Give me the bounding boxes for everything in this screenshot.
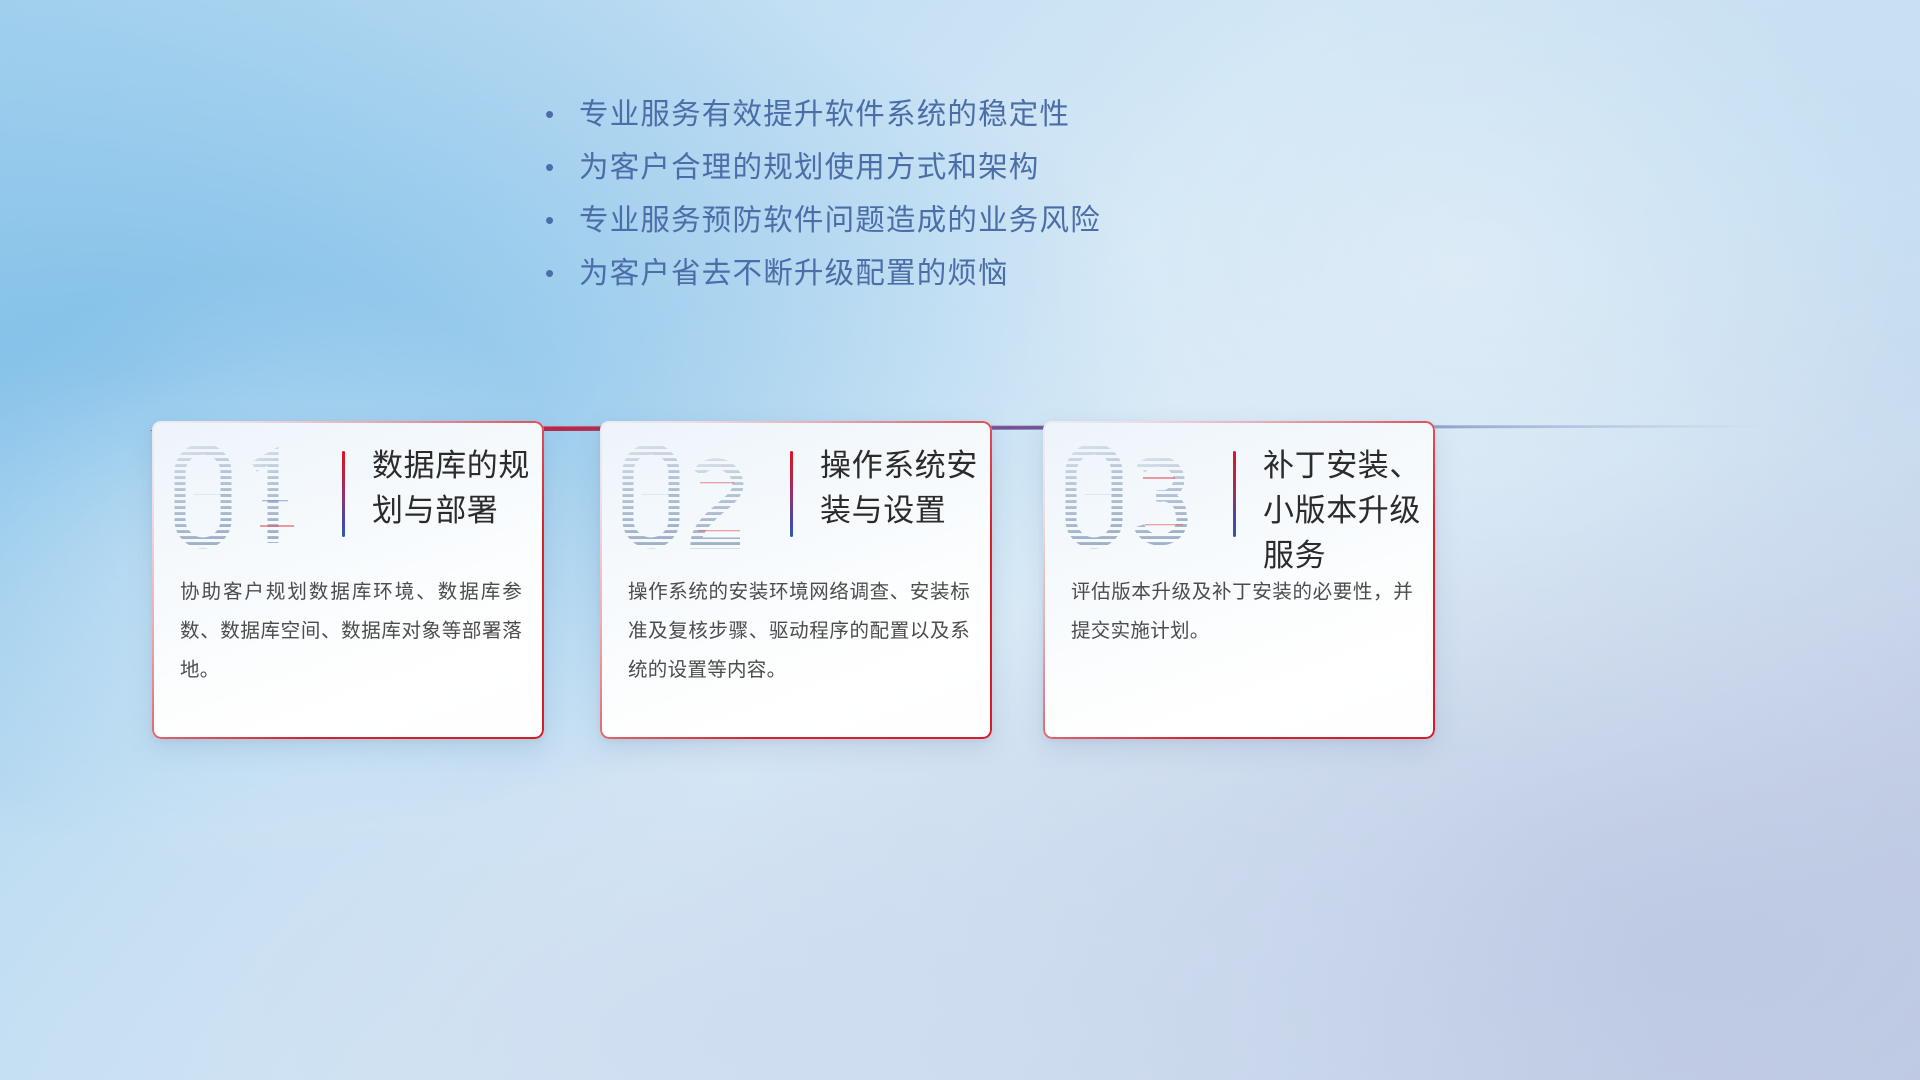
service-card[interactable]: 操作系统安装与设置 操作系统的安装环境网络调查、安装标准及复核步骤、驱动程序的配… [600, 421, 992, 739]
bullet-dot-icon: • [545, 141, 579, 194]
title-accent-rule [790, 451, 793, 537]
card-number-watermark [1061, 437, 1211, 555]
list-item: • 为客户省去不断升级配置的烦恼 [545, 247, 1605, 300]
bullet-text: 专业服务有效提升软件系统的稳定性 [579, 88, 1070, 141]
card-description: 操作系统的安装环境网络调查、安装标准及复核步骤、驱动程序的配置以及系统的设置等内… [628, 573, 970, 690]
bullet-dot-icon: • [545, 247, 579, 300]
card-number-watermark [618, 437, 768, 555]
benefits-bullet-list: • 专业服务有效提升软件系统的稳定性 • 为客户合理的规划使用方式和架构 • 专… [545, 88, 1605, 300]
slide-canvas: • 专业服务有效提升软件系统的稳定性 • 为客户合理的规划使用方式和架构 • 专… [0, 0, 1920, 1080]
title-accent-rule [342, 451, 345, 537]
service-card[interactable]: 数据库的规划与部署 协助客户规划数据库环境、数据库参数、数据库空间、数据库对象等… [152, 421, 544, 739]
card-description: 评估版本升级及补丁安装的必要性，并提交实施计划。 [1071, 573, 1413, 651]
card-title: 数据库的规划与部署 [372, 443, 532, 533]
bullet-dot-icon: • [545, 194, 579, 247]
card-title: 操作系统安装与设置 [820, 443, 980, 533]
bullet-text: 专业服务预防软件问题造成的业务风险 [579, 194, 1101, 247]
service-card[interactable]: 补丁安装、小版本升级服务 评估版本升级及补丁安装的必要性，并提交实施计划。 [1043, 421, 1435, 739]
bullet-text: 为客户省去不断升级配置的烦恼 [579, 247, 1009, 300]
card-description: 协助客户规划数据库环境、数据库参数、数据库空间、数据库对象等部署落地。 [180, 573, 522, 690]
card-title: 补丁安装、小版本升级服务 [1263, 443, 1423, 578]
list-item: • 为客户合理的规划使用方式和架构 [545, 141, 1605, 194]
title-accent-rule [1233, 451, 1236, 537]
bullet-dot-icon: • [545, 88, 579, 141]
bullet-text: 为客户合理的规划使用方式和架构 [579, 141, 1040, 194]
card-number-watermark [170, 437, 320, 555]
list-item: • 专业服务有效提升软件系统的稳定性 [545, 88, 1605, 141]
service-card-row: 数据库的规划与部署 协助客户规划数据库环境、数据库参数、数据库空间、数据库对象等… [0, 421, 1920, 751]
list-item: • 专业服务预防软件问题造成的业务风险 [545, 194, 1605, 247]
